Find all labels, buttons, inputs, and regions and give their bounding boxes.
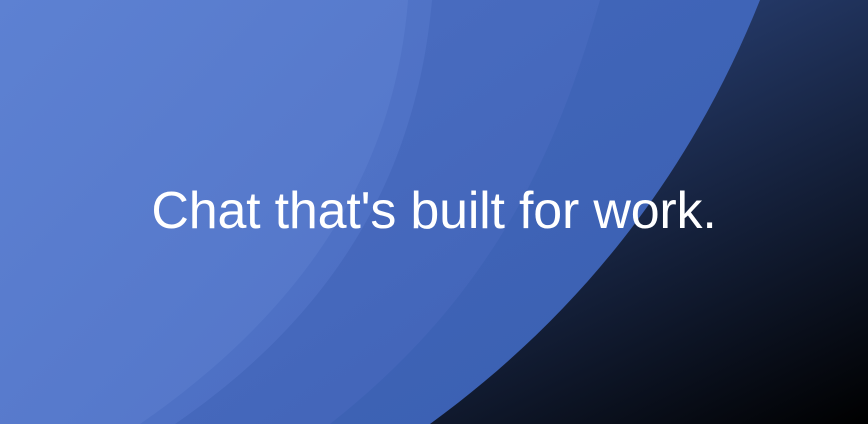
headline-container: Chat that's built for work. xyxy=(0,0,868,424)
hero-banner: Chat that's built for work. xyxy=(0,0,868,424)
hero-headline: Chat that's built for work. xyxy=(151,182,716,242)
